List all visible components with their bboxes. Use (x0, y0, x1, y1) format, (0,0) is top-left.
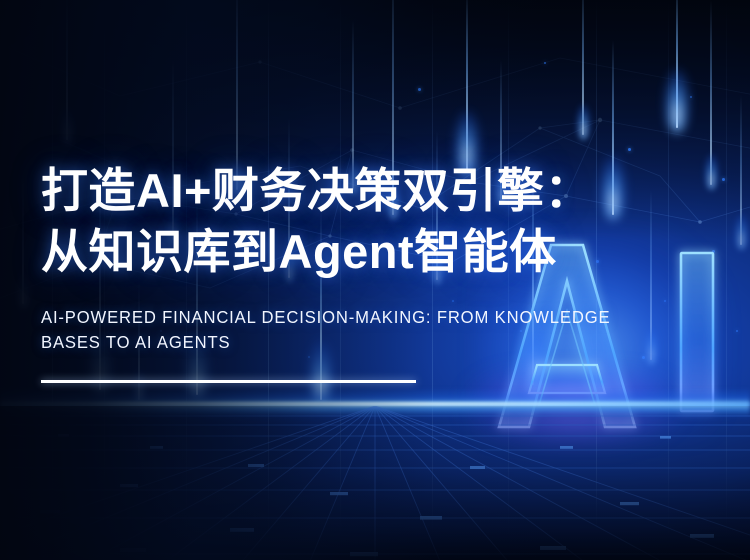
title-divider-rule (41, 380, 416, 383)
page-subtitle: AI-POWERED FINANCIAL DECISION-MAKING: FR… (41, 282, 663, 355)
text-block: 打造AI+财务决策双引擎： 从知识库到Agent智能体 AI-POWERED F… (41, 160, 701, 383)
poster-banner: 打造AI+财务决策双引擎： 从知识库到Agent智能体 AI-POWERED F… (0, 0, 750, 560)
page-title-line-1: 打造AI+财务决策双引擎： (41, 160, 701, 221)
page-title-line-2: 从知识库到Agent智能体 (41, 221, 701, 282)
